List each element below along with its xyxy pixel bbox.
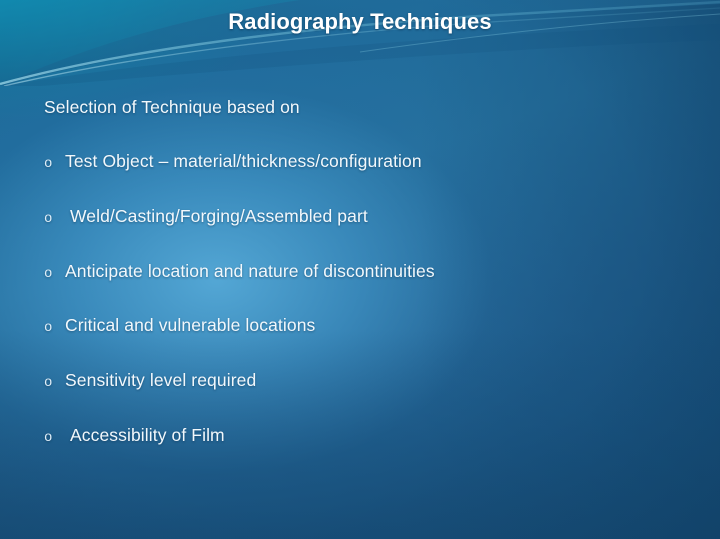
list-item: o Weld/Casting/Forging/Assembled part — [44, 206, 680, 228]
slide-body: Selection of Technique based on o Test O… — [44, 97, 680, 447]
list-item: o Anticipate location and nature of disc… — [44, 261, 680, 283]
bullet-list: o Test Object – material/thickness/confi… — [44, 151, 680, 447]
list-item-label: Critical and vulnerable locations — [65, 315, 680, 336]
list-item: o Critical and vulnerable locations — [44, 315, 680, 337]
list-item-label: Sensitivity level required — [65, 370, 680, 391]
list-item-label: Test Object – material/thickness/configu… — [65, 151, 680, 172]
page-title: Radiography Techniques — [0, 9, 720, 35]
list-item-label: Weld/Casting/Forging/Assembled part — [65, 206, 680, 227]
bullet-marker-icon: o — [44, 430, 65, 447]
bullet-marker-icon: o — [44, 211, 65, 228]
list-item: o Accessibility of Film — [44, 425, 680, 447]
bullet-marker-icon: o — [44, 320, 65, 337]
bullet-marker-icon: o — [44, 375, 65, 392]
presentation-slide: Radiography Techniques Selection of Tech… — [0, 0, 720, 539]
list-item-label: Accessibility of Film — [65, 425, 680, 446]
list-item: o Sensitivity level required — [44, 370, 680, 392]
bullet-marker-icon: o — [44, 156, 65, 173]
intro-text: Selection of Technique based on — [44, 97, 680, 118]
bullet-marker-icon: o — [44, 266, 65, 283]
list-item: o Test Object – material/thickness/confi… — [44, 151, 680, 173]
list-item-label: Anticipate location and nature of discon… — [65, 261, 680, 282]
